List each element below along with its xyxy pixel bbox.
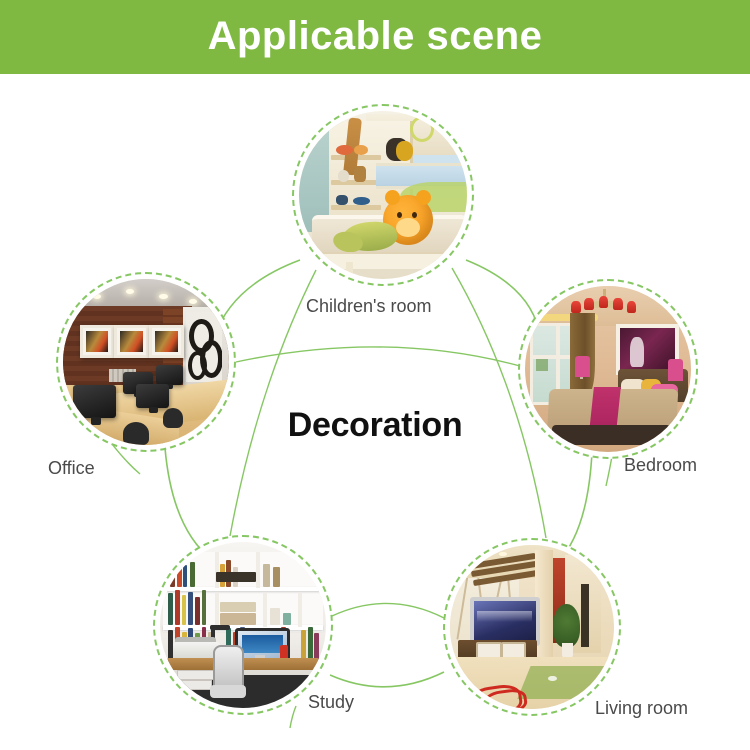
living-room-label: Living room	[595, 698, 688, 719]
node-living-room[interactable]: Living room	[443, 538, 621, 716]
office-label: Office	[48, 458, 95, 479]
node-study[interactable]: Study	[153, 535, 333, 715]
study-label: Study	[308, 692, 354, 713]
living-room-photo	[450, 545, 614, 709]
applicable-scene-infographic: Applicable scene	[0, 0, 750, 750]
living-room-circle[interactable]	[443, 538, 621, 716]
study-photo	[160, 542, 326, 708]
childrens-room-photo	[299, 111, 467, 279]
bedroom-label: Bedroom	[624, 455, 697, 476]
study-circle[interactable]	[153, 535, 333, 715]
childrens-room-label: Children's room	[306, 296, 431, 317]
node-childrens-room[interactable]: Children's room	[292, 104, 474, 286]
childrens-room-circle[interactable]	[292, 104, 474, 286]
center-label: Decoration	[0, 406, 750, 445]
